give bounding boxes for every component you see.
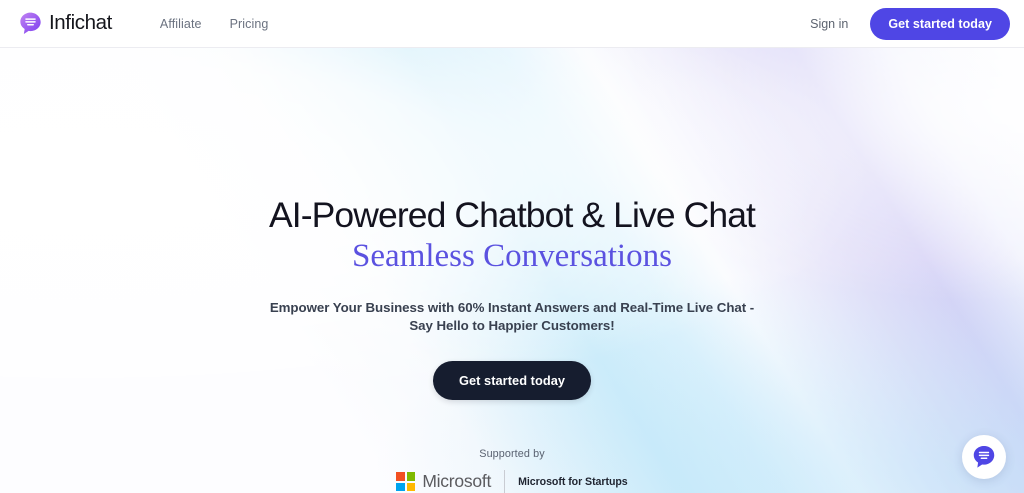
brand-logo-link[interactable]: Infichat bbox=[18, 11, 112, 36]
hero-get-started-button[interactable]: Get started today bbox=[433, 361, 591, 400]
nav-item-affiliate[interactable]: Affiliate bbox=[160, 17, 202, 31]
hero-subheading: Empower Your Business with 60% Instant A… bbox=[270, 299, 754, 337]
microsoft-wordmark: Microsoft bbox=[422, 473, 491, 491]
brand-name: Infichat bbox=[49, 13, 112, 34]
primary-nav-links: Affiliate Pricing bbox=[160, 17, 269, 31]
microsoft-brand: Microsoft bbox=[396, 472, 491, 491]
page-title: AI-Powered Chatbot & Live Chat Seamless … bbox=[269, 197, 755, 274]
headline-line-1: AI-Powered Chatbot & Live Chat bbox=[269, 195, 755, 235]
chat-widget-launcher-button[interactable] bbox=[962, 435, 1006, 479]
subheading-line-1: Empower Your Business with 60% Instant A… bbox=[270, 299, 754, 318]
nav-get-started-button[interactable]: Get started today bbox=[870, 8, 1010, 40]
hero-section: AI-Powered Chatbot & Live Chat Seamless … bbox=[0, 48, 1024, 493]
supported-by-label: Supported by bbox=[479, 448, 544, 460]
sign-in-link[interactable]: Sign in bbox=[810, 17, 848, 31]
headline-line-2: Seamless Conversations bbox=[269, 239, 755, 274]
logo-divider bbox=[504, 470, 505, 493]
supported-by-section: Supported by Microsoft Microsoft for Sta… bbox=[396, 448, 627, 493]
nav-right-group: Sign in Get started today bbox=[810, 8, 1010, 40]
microsoft-for-startups-label: Microsoft for Startups bbox=[518, 476, 628, 488]
subheading-line-2: Say Hello to Happier Customers! bbox=[270, 317, 754, 336]
chat-bubble-logo-icon bbox=[18, 11, 43, 36]
microsoft-logo-icon bbox=[396, 472, 415, 491]
microsoft-logo-row: Microsoft Microsoft for Startups bbox=[396, 470, 627, 493]
top-navigation-bar: Infichat Affiliate Pricing Sign in Get s… bbox=[0, 0, 1024, 48]
nav-item-pricing[interactable]: Pricing bbox=[230, 17, 269, 31]
chat-bubble-icon bbox=[971, 444, 997, 470]
